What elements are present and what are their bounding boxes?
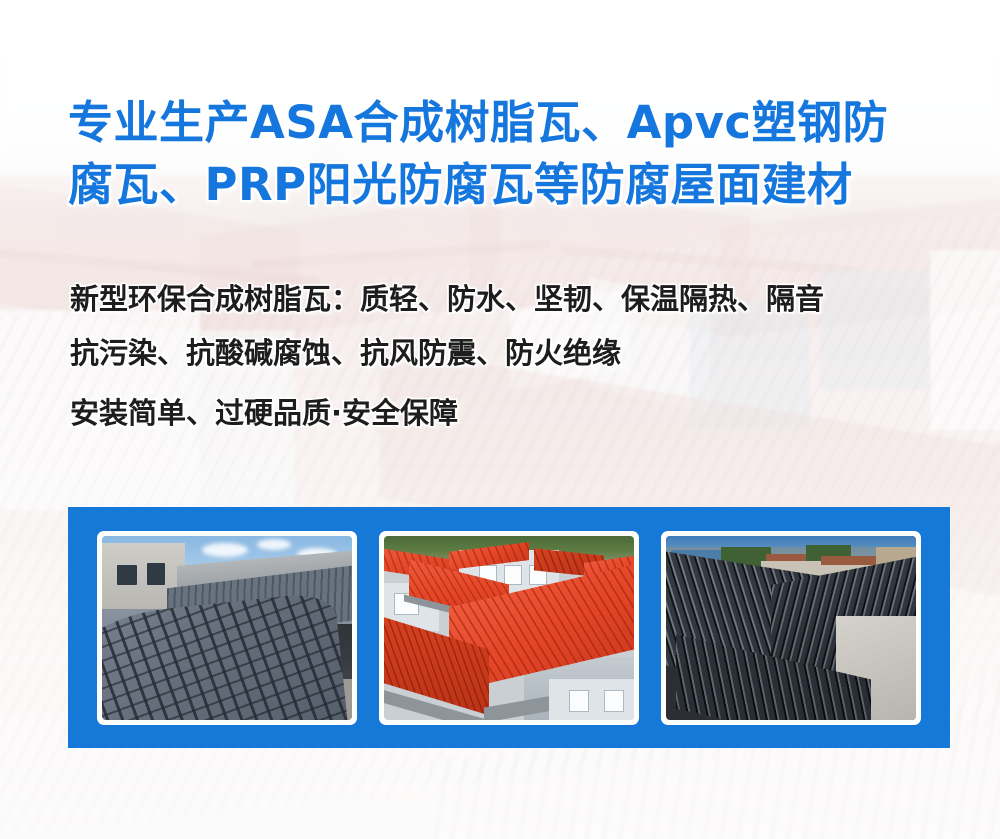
headline-line-1: 专业生产ASA合成树脂瓦、Apvc塑钢防 [68,92,968,154]
red-resin-tile-roof-aerial-image [384,536,634,720]
photo-gallery-panel [68,507,950,748]
banner-subtitle-list: 新型环保合成树脂瓦：质轻、防水、坚韧、保温隔热、隔音 抗污染、抗酸碱腐蚀、抗风防… [70,272,970,440]
subtitle-line-1: 新型环保合成树脂瓦：质轻、防水、坚韧、保温隔热、隔音 [70,272,970,326]
photo-frame-3[interactable] [661,531,921,725]
subtitle-line-3: 安装简单、过硬品质·安全保障 [70,386,970,440]
headline-line-2: 腐瓦、PRP阳光防腐瓦等防腐屋面建材 [68,154,968,216]
subtitle-line-2: 抗污染、抗酸碱腐蚀、抗风防震、防火绝缘 [70,326,970,380]
black-resin-tile-roof-village-image [666,536,916,720]
gray-resin-tile-roof-closeup-image [102,536,352,720]
photo-frame-1[interactable] [97,531,357,725]
product-banner: 专业生产ASA合成树脂瓦、Apvc塑钢防 腐瓦、PRP阳光防腐瓦等防腐屋面建材 … [0,0,1000,839]
banner-headline: 专业生产ASA合成树脂瓦、Apvc塑钢防 腐瓦、PRP阳光防腐瓦等防腐屋面建材 [68,92,968,216]
photo-frame-2[interactable] [379,531,639,725]
